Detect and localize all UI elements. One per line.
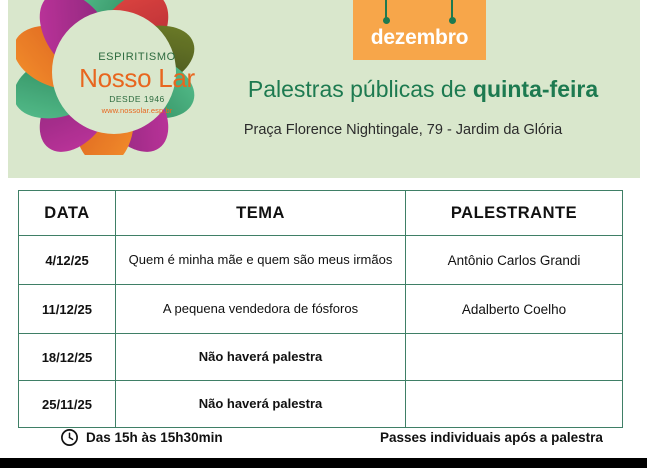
cell-topic: A pequena vendedora de fósforos xyxy=(116,285,406,334)
cell-date: 4/12/25 xyxy=(19,236,116,285)
month-label: dezembro xyxy=(353,26,486,50)
venue-address: Praça Florence Nightingale, 79 - Jardim … xyxy=(158,122,640,138)
logo-website: www.nossolar.esp.br xyxy=(72,107,202,115)
logo-desde-1946: DESDE 1946 xyxy=(72,95,202,104)
header-band: ESPIRITISMO Nosso Lar DESDE 1946 www.nos… xyxy=(8,0,640,178)
cell-speaker xyxy=(406,381,623,428)
clock-icon xyxy=(60,428,79,447)
cell-date: 25/11/25 xyxy=(19,381,116,428)
hanging-pin-icon-right xyxy=(451,0,453,20)
page-title-weekday: quinta-feira xyxy=(473,76,598,102)
logo-espiritismo: ESPIRITISMO xyxy=(72,52,202,63)
session-time-group: Das 15h às 15h30min xyxy=(60,428,223,447)
cell-speaker: Adalberto Coelho xyxy=(406,285,623,334)
column-header-date: DATA xyxy=(19,191,116,236)
bottom-bar xyxy=(0,458,647,468)
table-row: 4/12/25 Quem é minha mãe e quem são meus… xyxy=(19,236,623,285)
cell-topic: Não haverá palestra xyxy=(116,381,406,428)
footer: Das 15h às 15h30min Passes individuais a… xyxy=(0,428,647,458)
page-title: Palestras públicas de quinta-feira xyxy=(198,76,640,103)
page-title-regular: Palestras públicas de xyxy=(248,76,473,102)
cell-topic: Não haverá palestra xyxy=(116,334,406,381)
logo-text-block: ESPIRITISMO Nosso Lar DESDE 1946 www.nos… xyxy=(72,52,202,114)
cell-date: 11/12/25 xyxy=(19,285,116,334)
column-header-topic: TEMA xyxy=(116,191,406,236)
cell-date: 18/12/25 xyxy=(19,334,116,381)
month-banner: dezembro xyxy=(353,0,486,60)
cell-speaker: Antônio Carlos Grandi xyxy=(406,236,623,285)
session-time-label: Das 15h às 15h30min xyxy=(86,430,223,445)
column-header-speaker: PALESTRANTE xyxy=(406,191,623,236)
table-row: 18/12/25 Não haverá palestra xyxy=(19,334,623,381)
table-row: 11/12/25 A pequena vendedora de fósforos… xyxy=(19,285,623,334)
hanging-pin-icon-left xyxy=(385,0,387,20)
cell-speaker xyxy=(406,334,623,381)
passes-note: Passes individuais após a palestra xyxy=(380,430,603,445)
schedule-table: DATA TEMA PALESTRANTE 4/12/25 Quem é min… xyxy=(18,190,623,428)
table-row: 25/11/25 Não haverá palestra xyxy=(19,381,623,428)
logo-nosso-lar: Nosso Lar xyxy=(72,65,202,91)
table-header-row: DATA TEMA PALESTRANTE xyxy=(19,191,623,236)
cell-topic: Quem é minha mãe e quem são meus irmãos xyxy=(116,236,406,285)
